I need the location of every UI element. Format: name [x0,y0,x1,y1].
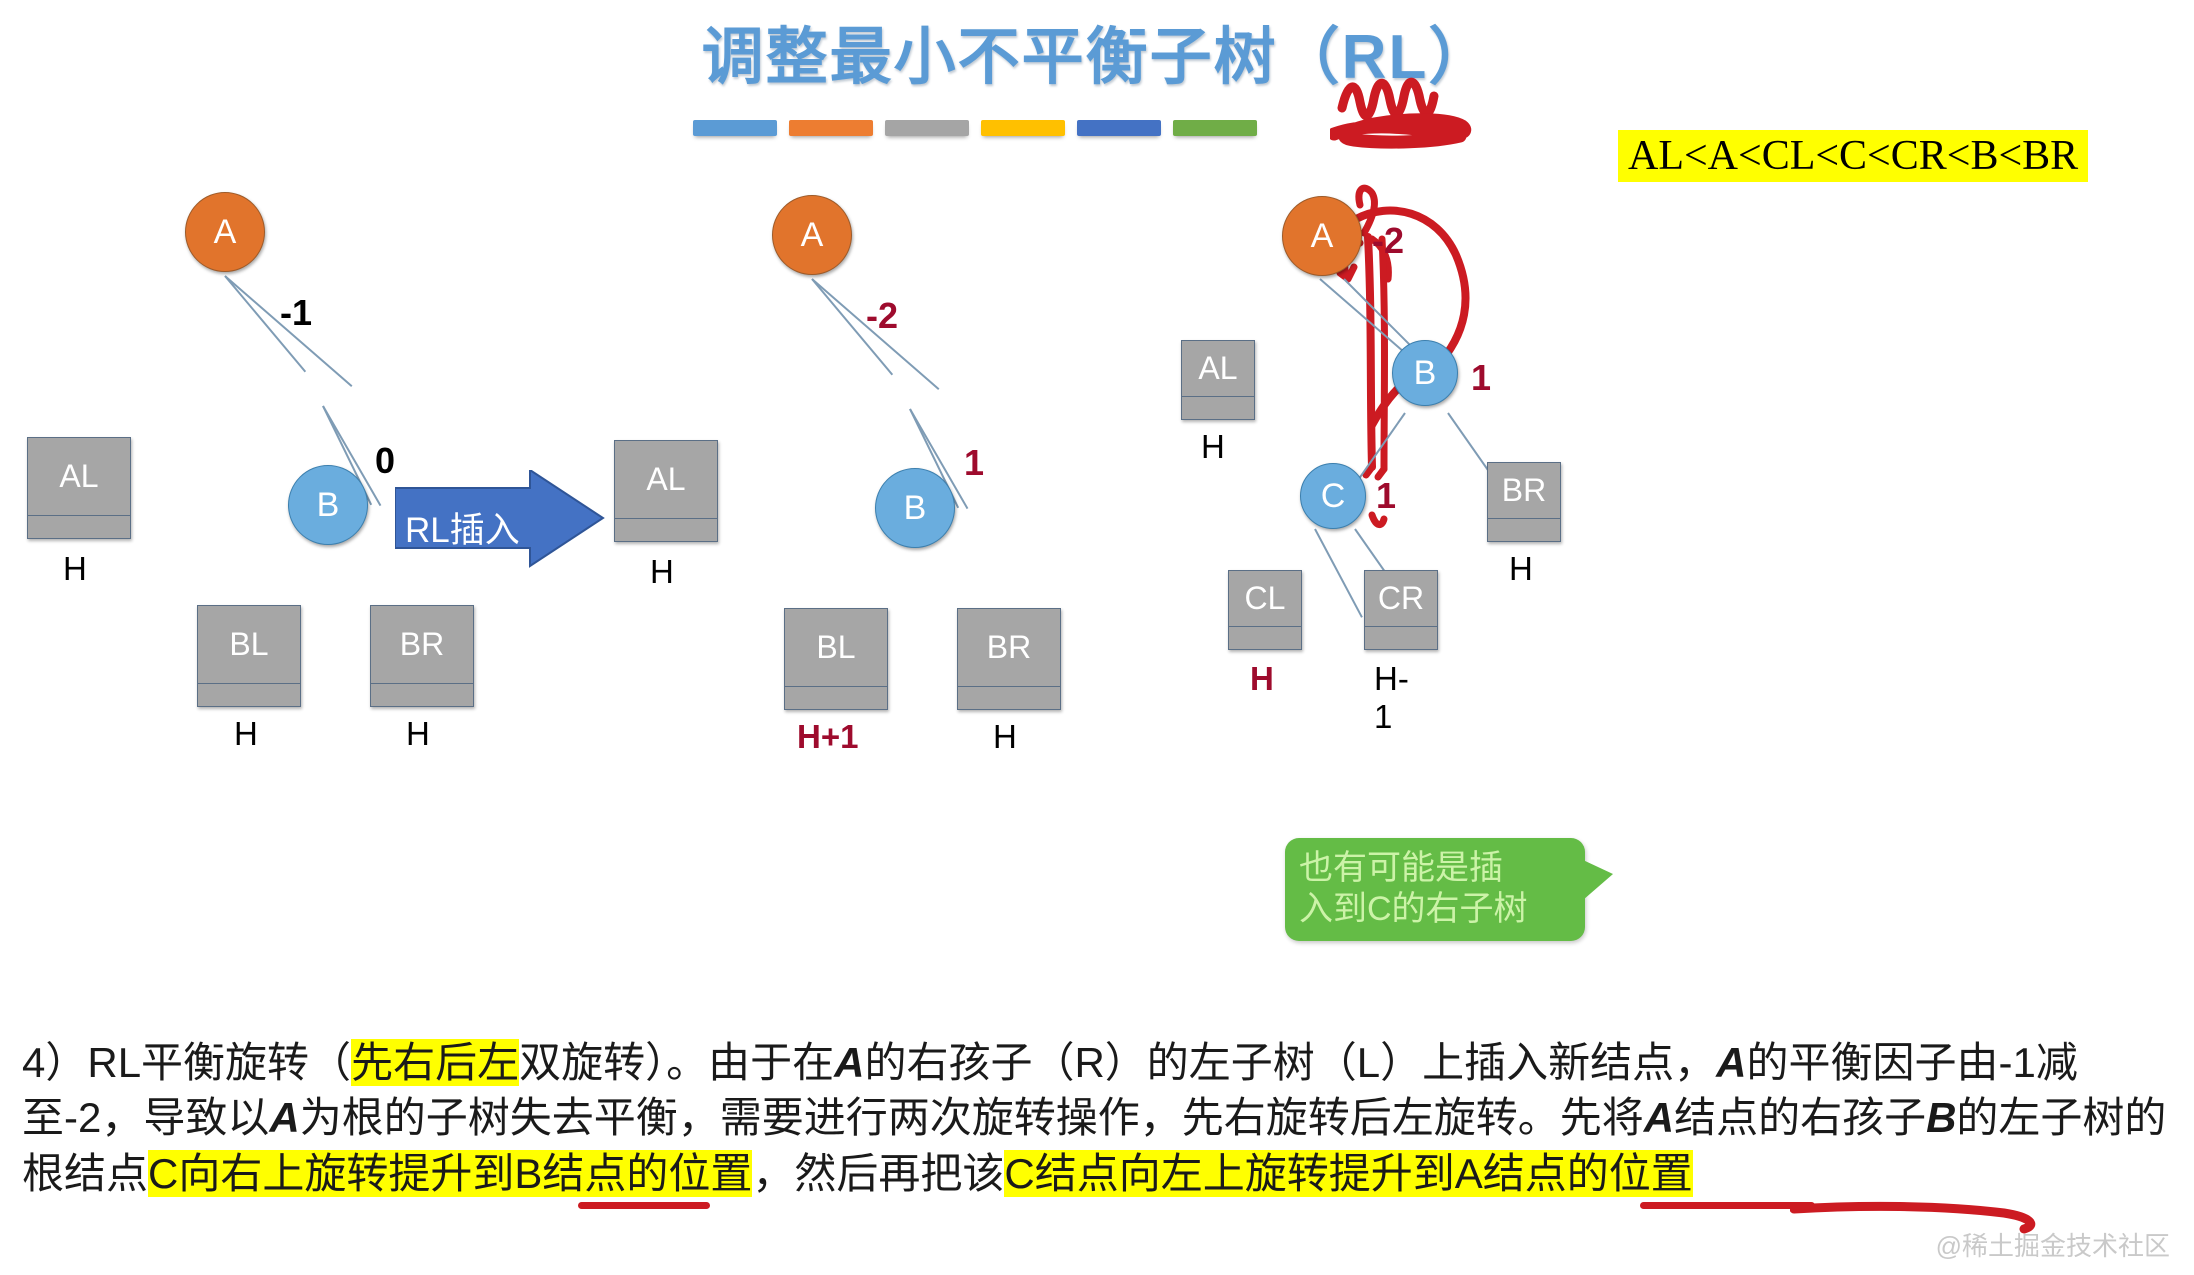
para-italic-a1: A [834,1039,864,1086]
subtree-box3-br-footer [1488,518,1560,541]
para-seg-8: ，然后再把该 [752,1150,1004,1197]
node-b: B [288,465,368,545]
para-italic-a2: A [1716,1039,1746,1086]
node3-b-label: B [1414,354,1437,393]
para-seg-6: 结点的右孩子 [1674,1094,1926,1141]
para-seg-2: 双旋转）。由于在 [519,1039,834,1086]
height-label3-cl: H [1250,660,1274,698]
title-bar-green [1173,120,1257,136]
explanation-paragraph: 4）RL平衡旋转（先右后左双旋转）。由于在A的右孩子（R）的左子树（L）上插入新… [22,1035,2172,1201]
watermark: @稀土掘金技术社区 [1936,1226,2170,1263]
height-label-bl: H [234,715,258,753]
subtree-box3-br: BR [1487,462,1561,542]
para-highlight-1: 先右后左 [351,1039,519,1086]
para-seg-1: 4）RL平衡旋转（ [22,1039,351,1086]
insert-hint-line1: 也有可能是插 [1299,848,1571,889]
para-italic-a3: A [269,1094,299,1141]
subtree-box2-bl-label: BL [785,609,887,686]
subtree-box-bl-footer [198,683,300,706]
subtree-box2-al-footer [615,518,717,541]
rl-insert-arrow-label: RL插入 [405,502,520,553]
slide-canvas: 调整最小不平衡子树（RL） AL<A<CL<C<CR<B<BR A -1 B 0… [0,0,2194,1275]
subtree-box-bl: BL [197,605,301,707]
balance-factor2-a: -2 [866,295,898,337]
subtree-box2-al: AL [614,440,718,542]
subtree-box-br-footer [371,683,473,706]
insert-hint-line2: 入到C的右子树 [1299,889,1571,930]
subtree-box-br-label: BR [371,606,473,683]
height-label2-al: H [650,553,674,591]
node3-c-label: C [1321,477,1346,516]
node3-a: A [1282,196,1362,276]
rl-insert-arrow: RL插入 [395,470,605,570]
title-bar-navy [1077,120,1161,136]
subtree-box3-cr: CR [1364,570,1438,650]
title-bar-blue [693,120,777,136]
node2-a-label: A [801,216,824,255]
para-seg-5: 为根的子树失去平衡，需要进行两次旋转操作，先右旋转后左旋转。先将 [300,1094,1644,1141]
subtree-box2-br-footer [958,686,1060,709]
height-label2-bl: H+1 [797,718,858,756]
height-label-br: H [406,715,430,753]
subtree-box2-al-label: AL [615,441,717,518]
para-highlight-3: C结点向左上旋转提升到A结点的位置 [1004,1150,1692,1197]
subtree-box3-al-label: AL [1182,341,1254,396]
node2-a: A [772,195,852,275]
node3-a-label: A [1311,217,1334,256]
subtree-box3-cr-label: CR [1365,571,1437,626]
title-accent-bars [693,120,1257,136]
para-italic-a4: A [1644,1094,1674,1141]
para-highlight-2: C向右上旋转提升到B结点的位置 [148,1150,752,1197]
subtree-box-al-footer [28,515,130,538]
height-label2-br: H [993,718,1017,756]
height-label3-al: H [1201,428,1225,466]
balance-factor2-b: 1 [964,442,984,484]
node-a: A [185,192,265,272]
node2-b-label: B [904,489,927,528]
node3-c: C [1300,463,1366,529]
node-b-label: B [317,486,340,525]
subtree-box3-br-label: BR [1488,463,1560,518]
subtree-box3-al-footer [1182,396,1254,419]
balance-factor3-a: -2 [1372,220,1404,262]
subtree-box2-br-label: BR [958,609,1060,686]
title-bar-gray [885,120,969,136]
subtree-box3-al: AL [1181,340,1255,420]
edge3-c-cl [1314,529,1363,618]
subtree-box2-bl: BL [784,608,888,710]
subtree-box3-cr-footer [1365,626,1437,649]
para-seg-3: 的右孩子（R）的左子树（L）上插入新结点， [864,1039,1716,1086]
title-bar-yellow [981,120,1065,136]
node2-b: B [875,468,955,548]
para-italic-b1: B [1926,1094,1956,1141]
subtree-box-br: BR [370,605,474,707]
subtree-box-al-label: AL [28,438,130,515]
node3-b: B [1392,340,1458,406]
subtree-box2-br: BR [957,608,1061,710]
height-label3-br: H [1509,550,1533,588]
subtree-box3-cl: CL [1228,570,1302,650]
title-bar-orange [789,120,873,136]
subtree-box2-bl-footer [785,686,887,709]
height-label3-cr: H-1 [1374,660,1409,736]
subtree-box-bl-label: BL [198,606,300,683]
callout-tail [1583,860,1613,900]
page-title: 调整最小不平衡子树（RL） [0,6,2194,96]
balance-factor3-b: 1 [1471,357,1491,399]
balance-factor-b: 0 [375,440,395,482]
insert-hint-callout: 也有可能是插 入到C的右子树 [1285,838,1585,941]
subtree-box3-cl-footer [1229,626,1301,649]
subtree-box-al: AL [27,437,131,539]
node-a-label: A [214,213,237,252]
height-label-al: H [63,550,87,588]
subtree-box3-cl-label: CL [1229,571,1301,626]
inequality-banner: AL<A<CL<C<CR<B<BR [1618,130,2088,182]
red-underline-right-rotate [578,1202,710,1209]
balance-factor-a: -1 [280,292,312,334]
balance-factor3-c: 1 [1376,475,1396,517]
red-underline-left-rotate [1640,1202,1815,1209]
